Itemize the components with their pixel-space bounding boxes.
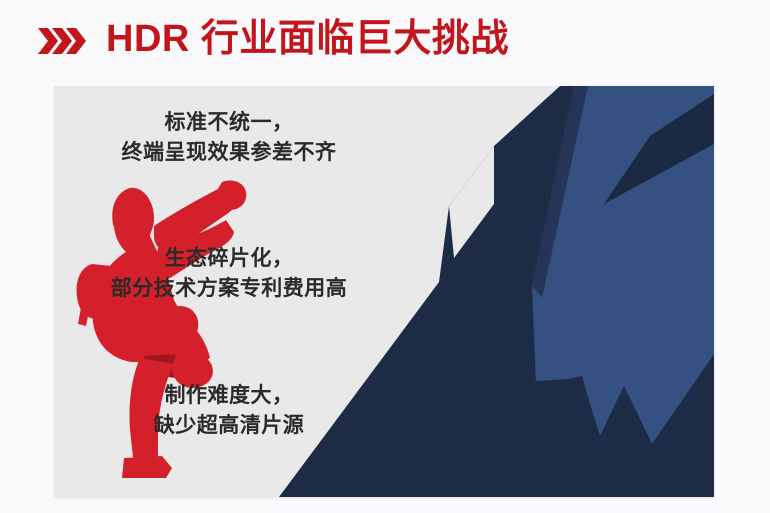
page-title: HDR 行业面临巨大挑战	[106, 20, 509, 58]
triple-chevron-icon	[38, 26, 94, 56]
issue-item-standards: 标准不统一， 终端呈现效果参差不齐	[54, 108, 404, 168]
issue-line-2: 部分技术方案专利费用高	[54, 274, 404, 304]
issue-line-1: 制作难度大，	[54, 381, 404, 411]
issues-list: 标准不统一， 终端呈现效果参差不齐 生态碎片化， 部分技术方案专利费用高 制作难…	[54, 86, 404, 497]
issue-line-2: 缺少超高清片源	[54, 411, 404, 441]
issue-item-production: 制作难度大， 缺少超高清片源	[54, 381, 404, 441]
issue-item-ecosystem: 生态碎片化， 部分技术方案专利费用高	[54, 244, 404, 304]
issue-line-2: 终端呈现效果参差不齐	[54, 138, 404, 168]
slide-header: HDR 行业面临巨大挑战	[0, 0, 770, 78]
content-panel: 标准不统一， 终端呈现效果参差不齐 生态碎片化， 部分技术方案专利费用高 制作难…	[54, 86, 714, 497]
issue-line-1: 生态碎片化，	[54, 244, 404, 274]
issue-line-1: 标准不统一，	[54, 108, 404, 138]
